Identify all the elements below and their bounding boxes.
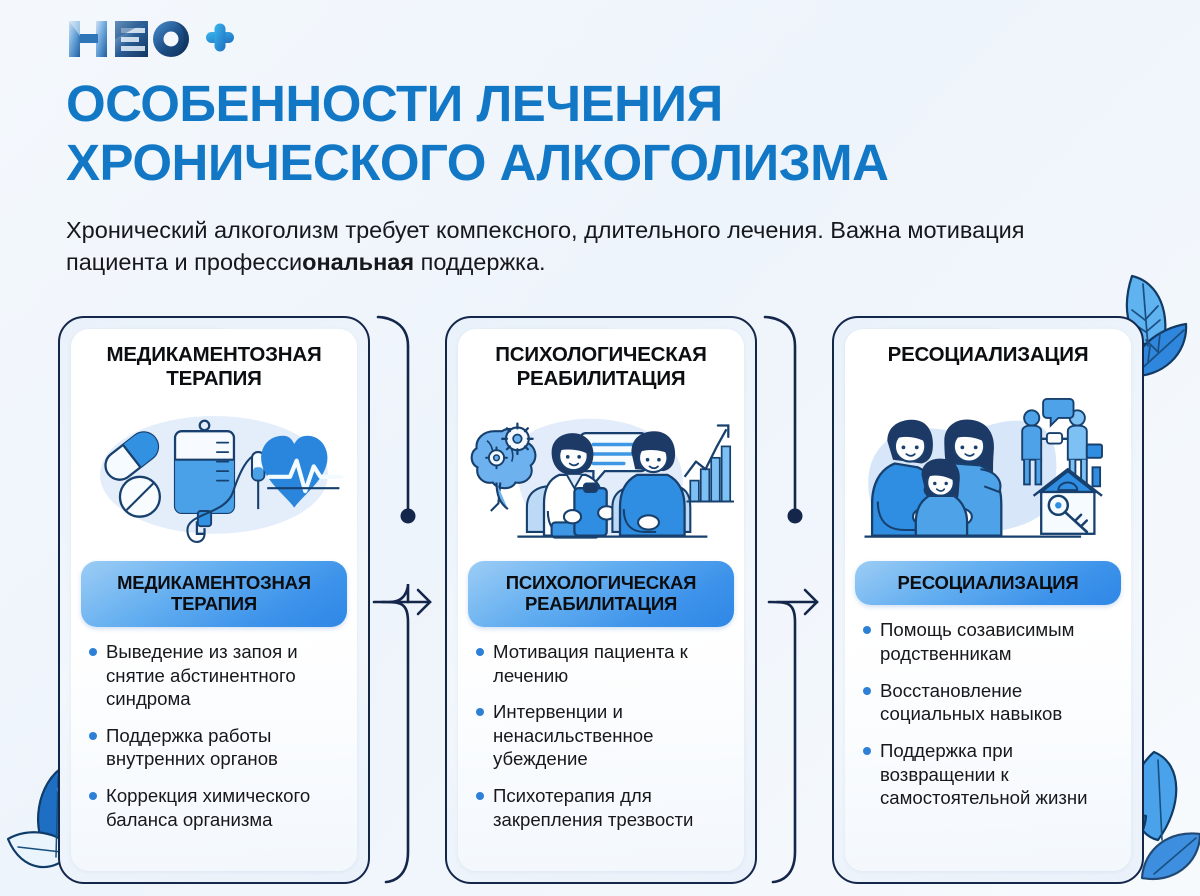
list-item: Поддержка при возвращении к самостоятель… xyxy=(861,739,1117,810)
list-item: Интервенции и ненасильственное убеждение xyxy=(474,700,730,771)
connector-node-dot xyxy=(401,509,416,524)
list-item: Восстановление социальных навыков xyxy=(861,679,1117,726)
card-bullet-list: Выведение из запоя и снятие абстинентног… xyxy=(81,640,347,844)
card-heading: МЕДИКАМЕНТОЗНАЯ ТЕРАПИЯ xyxy=(81,343,347,391)
gear-icon xyxy=(502,424,532,454)
page-title-line-2: ХРОНИЧЕСКОГО АЛКОГОЛИЗМА xyxy=(66,133,1156,192)
page-title-line-1: ОСОБЕННОСТИ ЛЕЧЕНИЯ xyxy=(66,74,1156,133)
card-heading: РЕСОЦИАЛИЗАЦИЯ xyxy=(888,343,1089,391)
treatment-stages-row: МЕДИКАМЕНТОЗНАЯ ТЕРАПИЯ xyxy=(58,316,1144,884)
page-title: ОСОБЕННОСТИ ЛЕЧЕНИЯ ХРОНИЧЕСКОГО АЛКОГОЛ… xyxy=(66,74,1156,192)
list-item: Выведение из запоя и снятие абстинентног… xyxy=(87,640,343,711)
card-content: МЕДИКАМЕНТОЗНАЯ ТЕРАПИЯ xyxy=(71,329,357,871)
card-psihologicheskaya-reabilitaciya[interactable]: ПСИХОЛОГИЧЕСКАЯ РЕАБИЛИТАЦИЯ xyxy=(445,316,757,884)
page-subtitle-emphasis: ональная xyxy=(302,249,414,275)
pills-iv-drip-heart-ecg-illustration xyxy=(81,393,347,553)
logo-plus-icon xyxy=(206,24,234,52)
neo-plus-logo xyxy=(66,16,236,62)
card-resocializaciya[interactable]: РЕСОЦИАЛИЗАЦИЯ xyxy=(832,316,1144,884)
logo-letter-o xyxy=(153,21,189,57)
card-badge[interactable]: ПСИХОЛОГИЧЕСКАЯ РЕАБИЛИТАЦИЯ xyxy=(468,561,734,627)
card-bullet-list: Мотивация пациента к лечению Интервенции… xyxy=(468,640,734,844)
connector-arrow-1 xyxy=(370,316,445,884)
logo-letter-e xyxy=(115,21,148,57)
family-handshake-house-key-illustration xyxy=(855,393,1121,553)
list-item: Психотерапия для закрепления трезвости xyxy=(474,784,730,831)
card-content: РЕСОЦИАЛИЗАЦИЯ xyxy=(845,329,1131,871)
connector-arrow-2 xyxy=(757,316,832,884)
page-subtitle: Хронический алкоголизм требует компексно… xyxy=(66,214,1076,279)
list-item: Мотивация пациента к лечению xyxy=(474,640,730,687)
brain-gears-therapist-patient-growth-chart-illustration xyxy=(468,393,734,553)
card-medikamentoznaya-terapiya[interactable]: МЕДИКАМЕНТОЗНАЯ ТЕРАПИЯ xyxy=(58,316,370,884)
card-content: ПСИХОЛОГИЧЕСКАЯ РЕАБИЛИТАЦИЯ xyxy=(458,329,744,871)
card-badge[interactable]: РЕСОЦИАЛИЗАЦИЯ xyxy=(855,561,1121,605)
list-item: Поддержка работы внутренних органов xyxy=(87,724,343,771)
logo-letter-n xyxy=(69,21,107,57)
list-item: Помощь созависимым родственникам xyxy=(861,618,1117,665)
page-subtitle-part-2: поддержка. xyxy=(414,249,546,275)
card-badge[interactable]: МЕДИКАМЕНТОЗНАЯ ТЕРАПИЯ xyxy=(81,561,347,627)
card-heading: ПСИХОЛОГИЧЕСКАЯ РЕАБИЛИТАЦИЯ xyxy=(468,343,734,391)
tablet-icon xyxy=(120,477,160,517)
speech-bubble-icon-small xyxy=(1043,399,1073,426)
card-bullet-list: Помощь созависимым родственникам Восстан… xyxy=(855,618,1121,822)
growth-chart-icon xyxy=(685,426,734,502)
list-item: Коррекция химического баланса организма xyxy=(87,784,343,831)
connector-node-dot xyxy=(788,509,803,524)
